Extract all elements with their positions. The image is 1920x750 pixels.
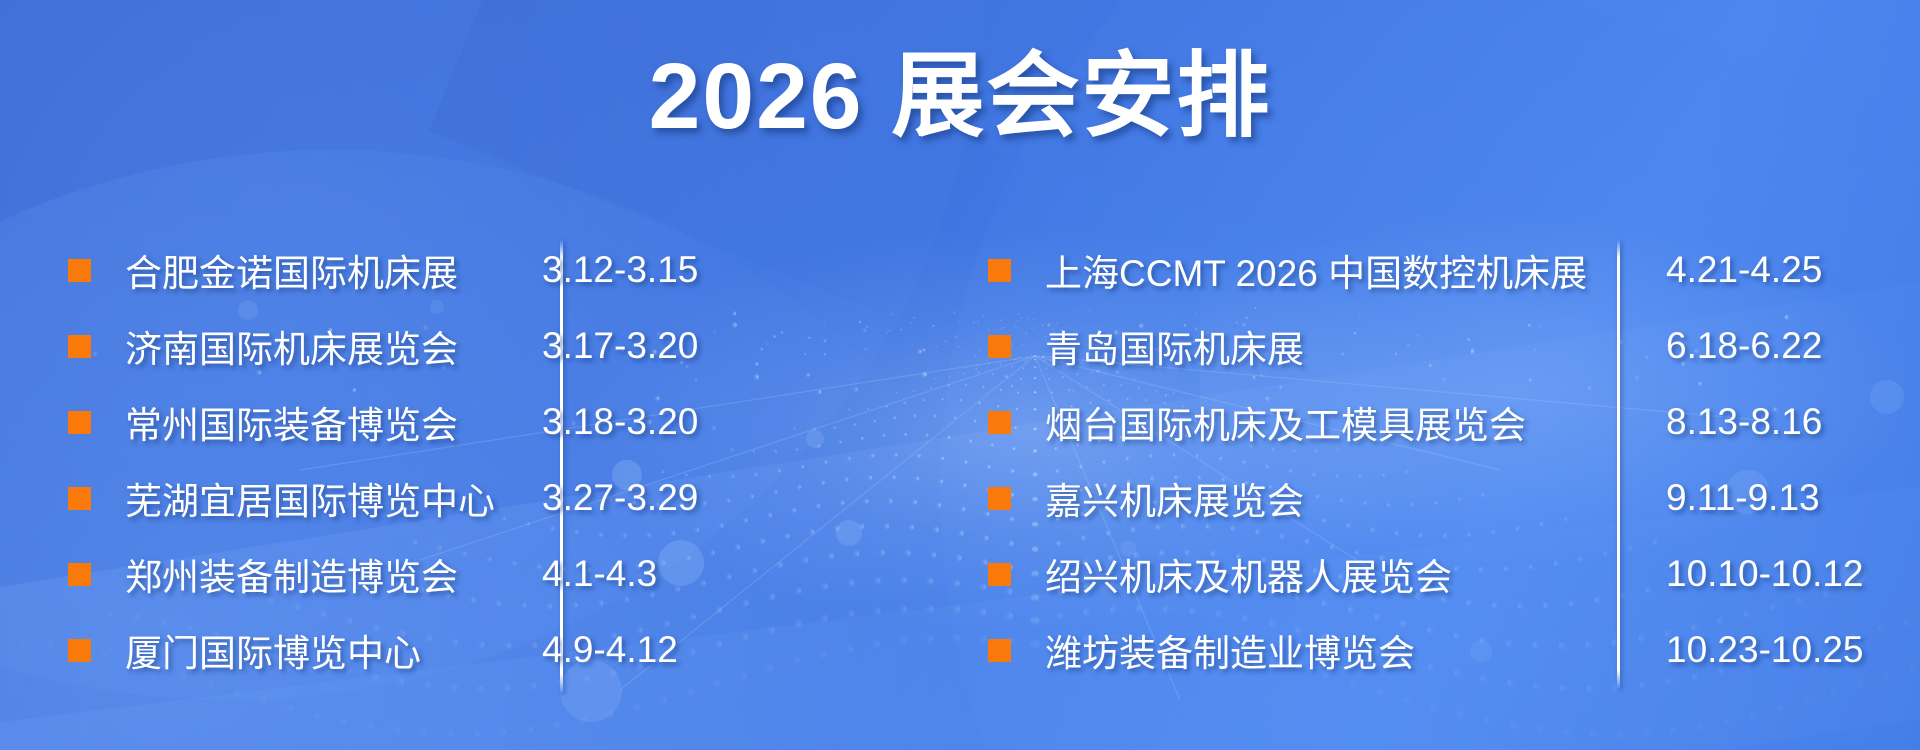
bullet-square-icon bbox=[988, 563, 1011, 586]
exhibition-name: 烟台国际机床及工模具展览会 bbox=[1045, 395, 1526, 449]
exhibition-date: 4.1-4.3 bbox=[542, 553, 657, 595]
bullet-square-icon bbox=[988, 335, 1011, 358]
table-row[interactable]: 绍兴机床及机器人展览会 bbox=[988, 536, 1630, 612]
exhibition-date: 3.27-3.29 bbox=[542, 477, 698, 519]
table-row[interactable]: 合肥金诺国际机床展 bbox=[68, 232, 492, 308]
table-row[interactable]: 青岛国际机床展 bbox=[988, 308, 1630, 384]
schedule-table: 合肥金诺国际机床展 济南国际机床展览会 常州国际装备博览会 芜湖宜居国际博览中心… bbox=[0, 232, 1920, 688]
bullet-square-icon bbox=[988, 259, 1011, 282]
exhibition-name: 上海CCMT 2026 中国数控机床展 bbox=[1045, 243, 1587, 297]
exhibition-date: 6.18-6.22 bbox=[1666, 325, 1822, 367]
exhibition-date: 8.13-8.16 bbox=[1666, 401, 1822, 443]
schedule-column-left: 合肥金诺国际机床展 济南国际机床展览会 常州国际装备博览会 芜湖宜居国际博览中心… bbox=[0, 232, 960, 688]
exhibition-name: 芜湖宜居国际博览中心 bbox=[125, 471, 495, 525]
exhibition-date: 4.21-4.25 bbox=[1666, 249, 1822, 291]
exhibition-name: 济南国际机床展览会 bbox=[125, 319, 458, 373]
table-row[interactable]: 芜湖宜居国际博览中心 bbox=[68, 460, 492, 536]
exhibition-name: 郑州装备制造博览会 bbox=[125, 547, 458, 601]
bullet-square-icon bbox=[68, 259, 91, 282]
exhibition-name: 常州国际装备博览会 bbox=[125, 395, 458, 449]
exhibition-date: 3.17-3.20 bbox=[542, 325, 698, 367]
exhibition-name-list-right: 上海CCMT 2026 中国数控机床展 青岛国际机床展 烟台国际机床及工模具展览… bbox=[960, 232, 1630, 688]
exhibition-date: 3.18-3.20 bbox=[542, 401, 698, 443]
bullet-square-icon bbox=[68, 563, 91, 586]
table-row-date: 10.23-10.25 bbox=[1666, 612, 1920, 688]
exhibition-name: 嘉兴机床展览会 bbox=[1045, 471, 1304, 525]
exhibition-date: 3.12-3.15 bbox=[542, 249, 698, 291]
bullet-square-icon bbox=[68, 335, 91, 358]
bullet-square-icon bbox=[68, 411, 91, 434]
exhibition-date: 10.10-10.12 bbox=[1666, 553, 1864, 595]
table-row-date: 9.11-9.13 bbox=[1666, 460, 1920, 536]
bullet-square-icon bbox=[988, 639, 1011, 662]
table-row-date: 4.9-4.12 bbox=[542, 612, 892, 688]
table-row-date: 3.12-3.15 bbox=[542, 232, 892, 308]
table-row-date: 3.27-3.29 bbox=[542, 460, 892, 536]
table-row[interactable]: 潍坊装备制造业博览会 bbox=[988, 612, 1630, 688]
bullet-square-icon bbox=[68, 639, 91, 662]
exhibition-date: 10.23-10.25 bbox=[1666, 629, 1864, 671]
exhibition-name: 青岛国际机床展 bbox=[1045, 319, 1304, 373]
exhibition-name: 潍坊装备制造业博览会 bbox=[1045, 623, 1415, 677]
exhibition-date-list-left: 3.12-3.15 3.17-3.20 3.18-3.20 3.27-3.29 … bbox=[492, 232, 892, 688]
table-row-date: 3.18-3.20 bbox=[542, 384, 892, 460]
exhibition-name-list-left: 合肥金诺国际机床展 济南国际机床展览会 常州国际装备博览会 芜湖宜居国际博览中心… bbox=[0, 232, 492, 688]
exhibition-name: 绍兴机床及机器人展览会 bbox=[1045, 547, 1452, 601]
schedule-column-right: 上海CCMT 2026 中国数控机床展 青岛国际机床展 烟台国际机床及工模具展览… bbox=[960, 232, 1920, 688]
page-title: 2026 展会安排 bbox=[0, 46, 1920, 146]
bullet-square-icon bbox=[988, 487, 1011, 510]
bullet-square-icon bbox=[988, 411, 1011, 434]
table-row[interactable]: 济南国际机床展览会 bbox=[68, 308, 492, 384]
exhibition-schedule-poster: 2026 展会安排 合肥金诺国际机床展 济南国际机床展览会 常州国际装备博览会 bbox=[0, 0, 1920, 750]
table-row-date: 4.1-4.3 bbox=[542, 536, 892, 612]
table-row-date: 6.18-6.22 bbox=[1666, 308, 1920, 384]
table-row[interactable]: 上海CCMT 2026 中国数控机床展 bbox=[988, 232, 1630, 308]
table-row-date: 10.10-10.12 bbox=[1666, 536, 1920, 612]
table-row[interactable]: 郑州装备制造博览会 bbox=[68, 536, 492, 612]
table-row-date: 8.13-8.16 bbox=[1666, 384, 1920, 460]
table-row[interactable]: 常州国际装备博览会 bbox=[68, 384, 492, 460]
exhibition-date: 9.11-9.13 bbox=[1666, 477, 1820, 519]
exhibition-date-list-right: 4.21-4.25 6.18-6.22 8.13-8.16 9.11-9.13 … bbox=[1630, 232, 1920, 688]
table-row-date: 3.17-3.20 bbox=[542, 308, 892, 384]
table-row-date: 4.21-4.25 bbox=[1666, 232, 1920, 308]
table-row[interactable]: 烟台国际机床及工模具展览会 bbox=[988, 384, 1630, 460]
table-row[interactable]: 嘉兴机床展览会 bbox=[988, 460, 1630, 536]
exhibition-name: 合肥金诺国际机床展 bbox=[125, 243, 458, 297]
exhibition-date: 4.9-4.12 bbox=[542, 629, 678, 671]
exhibition-name: 厦门国际博览中心 bbox=[125, 623, 421, 677]
bullet-square-icon bbox=[68, 487, 91, 510]
table-row[interactable]: 厦门国际博览中心 bbox=[68, 612, 492, 688]
